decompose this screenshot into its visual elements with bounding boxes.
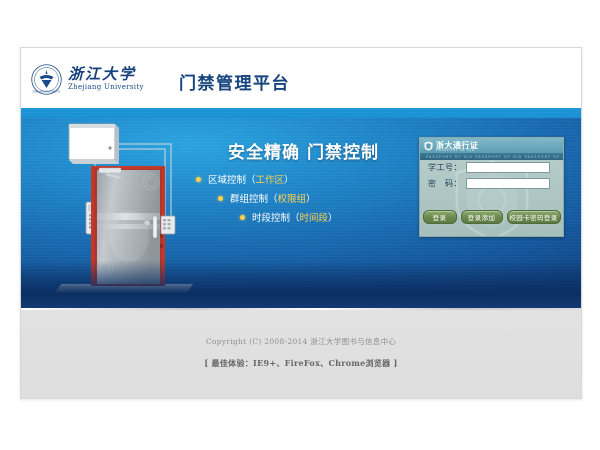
access-control-door-diagram [43, 116, 213, 302]
login-button[interactable]: 登录 [423, 210, 457, 224]
card-reader [161, 216, 175, 234]
feature-prefix: 时段控制（ [252, 210, 300, 224]
feature-suffix: ） [328, 210, 338, 224]
password-label: 密 码： [428, 178, 466, 189]
banner-slogan-block: 安全精确 门禁控制 [196, 138, 411, 163]
login-panel-subtitle: PASSPORT OF ZJU [436, 148, 475, 152]
university-logo[interactable]: ZHEJIANG UNIVERSITY 浙江大学 Zhejiang Univer… [31, 62, 144, 96]
login-button-row: 登录 登录添加 校园卡密码登录 [420, 210, 563, 224]
login-add-button[interactable]: 登录添加 [461, 210, 503, 224]
password-input[interactable] [466, 178, 550, 189]
passport-repeat-strip: PASSPORT OF ZJU PASSPORT OF ZJU PASSPORT… [420, 153, 563, 160]
site-card: ZHEJIANG UNIVERSITY 浙江大学 Zhejiang Univer… [20, 47, 582, 399]
feature-highlight: 权限组 [278, 191, 307, 205]
hero-banner: 安全精确 门禁控制 区域控制（工作区） 群组控制（权限组） 时段控制（时间段） [21, 108, 581, 308]
zhejiang-university-seal-icon: ZHEJIANG UNIVERSITY [31, 64, 62, 95]
shield-icon [424, 141, 433, 151]
staff-id-row: 学工号： [420, 162, 563, 173]
bullet-dot-icon [240, 215, 245, 220]
page-root: ZHEJIANG UNIVERSITY 浙江大学 Zhejiang Univer… [0, 0, 600, 450]
logo-wordmark: 浙江大学 Zhejiang University [68, 67, 144, 91]
banner-slogan: 安全精确 门禁控制 [196, 138, 411, 163]
login-panel: 浙大通行证 PASSPORT OF ZJU PASSPORT OF ZJU PA… [419, 137, 564, 237]
feature-highlight: 时间段 [300, 210, 329, 224]
page-title: 门禁管理平台 [179, 69, 290, 94]
feature-suffix: ） [306, 191, 316, 205]
feature-item-area: 区域控制（工作区） [196, 172, 416, 186]
password-row: 密 码： [420, 178, 563, 189]
passport-strip-text: PASSPORT OF ZJU PASSPORT OF ZJU PASSPORT… [420, 155, 563, 159]
feature-item-time: 时段控制（时间段） [196, 210, 416, 224]
footer-divider [21, 308, 581, 310]
logo-chinese-name: 浙江大学 [68, 67, 144, 82]
logo-english-name: Zhejiang University [68, 84, 144, 91]
feature-highlight: 工作区 [256, 172, 285, 186]
svg-text:ZHEJIANG UNIVERSITY: ZHEJIANG UNIVERSITY [32, 90, 61, 93]
bullet-dot-icon [218, 196, 223, 201]
staff-id-input[interactable] [466, 162, 550, 173]
feature-prefix: 区域控制（ [208, 172, 256, 186]
door-panel [97, 170, 160, 284]
banner-feature-list: 区域控制（工作区） 群组控制（权限组） 时段控制（时间段） [196, 172, 416, 229]
site-header: ZHEJIANG UNIVERSITY 浙江大学 Zhejiang Univer… [21, 48, 581, 108]
feature-prefix: 群组控制（ [230, 191, 278, 205]
footer-browser-note: [ 最佳体验：IE9+、FireFox、Chrome浏览器 ] [21, 358, 581, 369]
staff-id-label: 学工号： [428, 162, 466, 173]
campus-card-login-button[interactable]: 校园卡密码登录 [507, 210, 561, 224]
footer-copyright: Copyright (C) 2008-2014 浙江大学图书与信息中心 [21, 336, 581, 347]
feature-item-group: 群组控制（权限组） [196, 191, 416, 205]
site-footer: Copyright (C) 2008-2014 浙江大学图书与信息中心 [ 最佳… [21, 308, 581, 398]
bullet-dot-icon [196, 177, 201, 182]
feature-suffix: ） [284, 172, 294, 186]
controller-box [69, 124, 119, 164]
login-form: 学工号： 密 码： [420, 162, 563, 194]
